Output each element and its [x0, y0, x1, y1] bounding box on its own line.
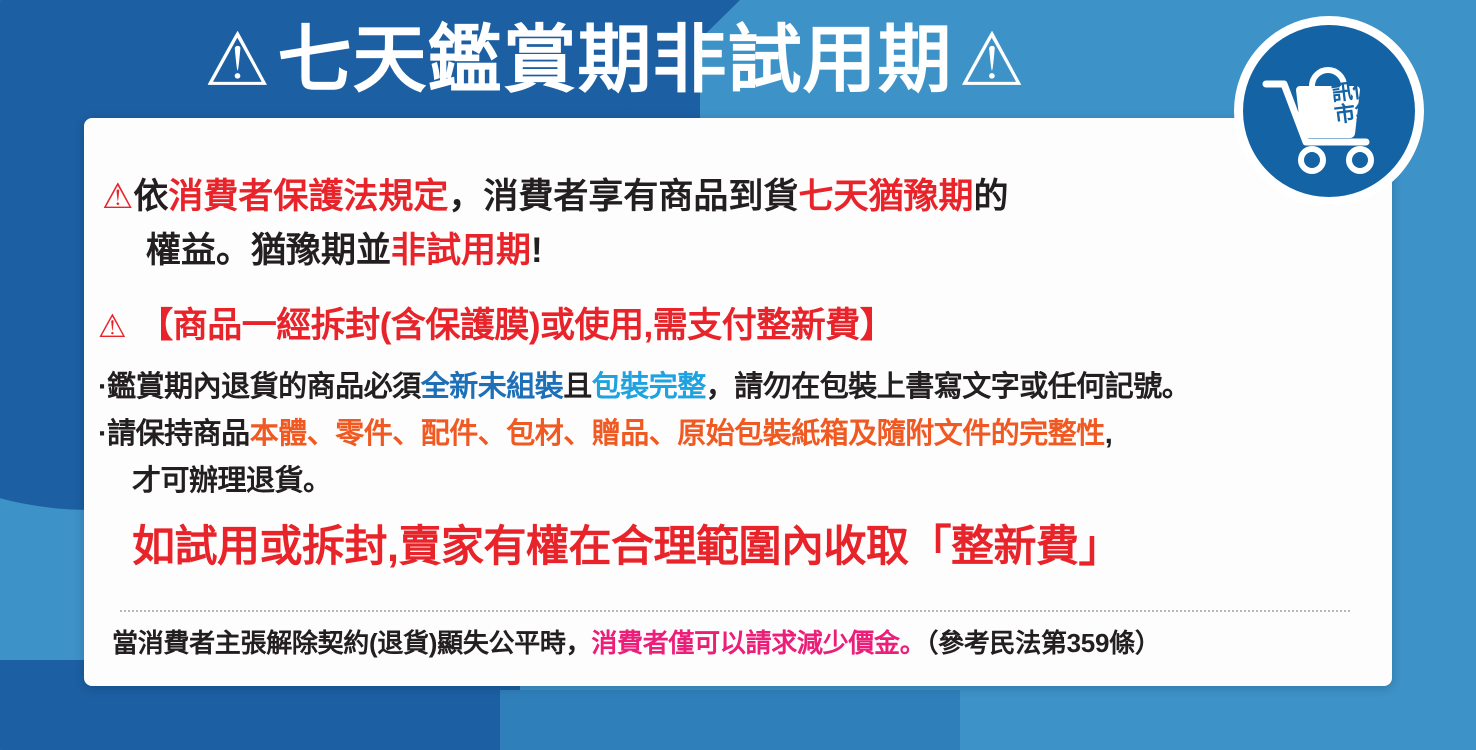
list-item: ·請保持商品本體、零件、配件、包材、贈品、原始包裝紙箱及隨附文件的完整性,: [98, 411, 1190, 458]
consumer-law-line2-a: 權益。猶豫期並: [146, 231, 391, 270]
warning-triangle-icon-p1: ⚠: [102, 177, 133, 216]
bullet-2-seg-3: ,: [1105, 418, 1113, 450]
consumer-law-highlight-1: 消費者保護法規定: [168, 177, 448, 216]
poster-header: ⚠七天鑑賞期非試用期⚠: [0, 8, 1230, 112]
bullet-marker: ·: [98, 418, 107, 450]
page-title-text: 七天鑑賞期非試用期: [278, 23, 953, 97]
warning-triangle-icon-right: ⚠: [959, 23, 1026, 97]
consumer-law-paragraph: ⚠依消費者保護法規定，消費者享有商品到貨七天猶豫期的 權益。猶豫期並非試用期!: [102, 170, 1008, 279]
restocking-fee-emphasis: 如試用或拆封,賣家有權在合理範圍內收取「整新費」: [132, 526, 1121, 569]
consumer-law-line1-a: 依: [133, 177, 168, 216]
footnote-part-3: （參考民法第359條）: [925, 628, 1160, 658]
consumer-law-line1-c: ，消費者享有商品到貨: [448, 177, 798, 216]
footnote-part-1: 當消費者主張解除契約(退貨)顯失公平時，: [112, 628, 591, 658]
bullet-1-seg-1: 鑑賞期內退貨的商品必須: [107, 371, 421, 403]
footnote-part-2: 消費者僅可以請求減少價金。: [591, 628, 925, 658]
brand-logo-badge: 訊億 市集: [1234, 16, 1424, 206]
policy-card: ⚠依消費者保護法規定，消費者享有商品到貨七天猶豫期的 權益。猶豫期並非試用期! …: [84, 118, 1392, 686]
legal-footnote: 當消費者主張解除契約(退貨)顯失公平時，消費者僅可以請求減少價金。（參考民法第3…: [112, 630, 1161, 656]
consumer-law-line1-e: 的: [973, 177, 1008, 216]
list-item: ·鑑賞期內退貨的商品必須全新未組裝且包裝完整，請勿在包裝上書寫文字或任何記號。: [98, 364, 1190, 411]
bullet-marker: ·: [98, 371, 107, 403]
consumer-law-line-2: 權益。猶豫期並非試用期!: [102, 224, 1008, 278]
opened-package-heading: ⚠【商品一經拆封(含保護膜)或使用,需支付整新費】: [98, 308, 894, 343]
bullet-1-seg-5: ，請勿在包裝上書寫文字或任何記號。: [706, 371, 1191, 403]
consumer-law-line2-c: !: [531, 231, 543, 270]
bullet-1-seg-3: 且: [563, 371, 592, 403]
bullet-2-seg-1: 請保持商品: [107, 418, 250, 450]
warning-triangle-icon-heading: ⚠: [98, 308, 126, 344]
divider: [120, 610, 1350, 612]
bullet-3-seg-1: 才可辦理退貨。: [132, 465, 332, 497]
shopping-cart-icon: [1254, 36, 1404, 186]
opened-package-heading-text: 【商品一經拆封(含保護膜)或使用,需支付整新費】: [138, 306, 894, 345]
consumer-law-highlight-3: 非試用期: [391, 231, 531, 270]
page-title: ⚠七天鑑賞期非試用期⚠: [204, 23, 1026, 97]
list-item: 才可辦理退貨。: [98, 458, 1190, 505]
warning-triangle-icon-left: ⚠: [204, 23, 271, 97]
bullet-2-seg-2: 本體、零件、配件、包材、贈品、原始包裝紙箱及隨附文件的完整性: [250, 418, 1105, 450]
promo-poster: ⚠七天鑑賞期非試用期⚠ 訊億 市集 ⚠依消費者保護法規定，消費者享有商品到貨七天…: [0, 0, 1476, 750]
consumer-law-line-1: ⚠依消費者保護法規定，消費者享有商品到貨七天猶豫期的: [102, 170, 1008, 224]
bullet-1-seg-4: 包裝完整: [592, 371, 706, 403]
return-conditions-list: ·鑑賞期內退貨的商品必須全新未組裝且包裝完整，請勿在包裝上書寫文字或任何記號。 …: [98, 364, 1190, 505]
consumer-law-highlight-2: 七天猶豫期: [798, 177, 973, 216]
bullet-1-seg-2: 全新未組裝: [421, 371, 564, 403]
